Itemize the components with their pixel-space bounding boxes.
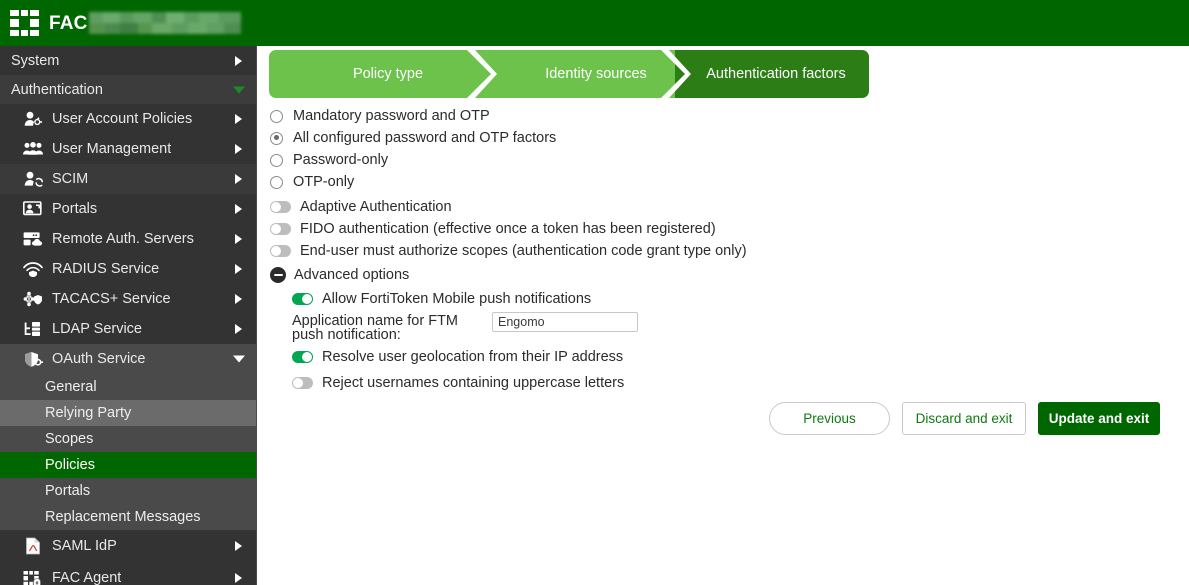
radio-option-label: Password-only (293, 152, 388, 168)
radio-button-icon[interactable] (270, 154, 283, 167)
sidebar-item-label: SCIM (52, 171, 88, 187)
wizard-action-buttons: Previous Discard and exit Update and exi… (769, 402, 1160, 435)
fortinet-grid-logo-icon[interactable] (10, 10, 40, 36)
user-settings-icon (22, 109, 44, 129)
wizard-chevron-separator-icon (467, 50, 497, 98)
chevron-right-icon (235, 144, 242, 154)
sidebar-item-portals[interactable]: Portals (0, 194, 256, 224)
sidebar-item-label: User Management (52, 141, 171, 157)
toggle-label: Allow FortiToken Mobile push notificatio… (322, 291, 591, 307)
left-sidebar-navigation[interactable]: System Authentication User Account Polic… (0, 46, 257, 585)
sidebar-item-fac-agent[interactable]: FAC Agent (0, 562, 256, 585)
chevron-right-icon (235, 114, 242, 124)
toggle-label: Resolve user geolocation from their IP a… (322, 349, 623, 365)
sidebar-subitem-label: Scopes (45, 431, 93, 447)
wizard-chevron-separator-icon (661, 50, 691, 98)
sidebar-item-oauth-service[interactable]: OAuth Service (0, 344, 256, 374)
user-screen-icon (22, 199, 44, 219)
authentication-factors-form: Mandatory password and OTP All configure… (270, 105, 1170, 394)
brand-title: FAC (49, 14, 88, 33)
oauth-service-submenu: General Relying Party Scopes Policies Po… (0, 374, 256, 530)
sidebar-item-label: LDAP Service (52, 321, 142, 337)
toggle-label: FIDO authentication (effective once a to… (300, 221, 716, 237)
sidebar-subitem-scopes[interactable]: Scopes (0, 426, 256, 452)
chevron-down-icon (233, 356, 245, 363)
sidebar-subitem-general[interactable]: General (0, 374, 256, 400)
sidebar-item-label: TACACS+ Service (52, 291, 171, 307)
chevron-right-icon (235, 204, 242, 214)
sidebar-subitem-label: Portals (45, 483, 90, 499)
top-header-bar: FAC (0, 0, 1189, 46)
sidebar-item-label: System (11, 53, 59, 69)
sidebar-item-label: Authentication (11, 82, 103, 98)
wizard-step-policy-type[interactable]: Policy type (269, 50, 499, 98)
chevron-down-icon (233, 86, 245, 93)
wizard-step-breadcrumb: Policy type Identity sources Authenticat… (269, 50, 869, 98)
sidebar-subitem-label: Policies (45, 457, 95, 473)
sidebar-item-label: Portals (52, 201, 97, 217)
oauth-shield-key-icon (22, 349, 44, 369)
toggle-label: Adaptive Authentication (300, 199, 452, 215)
radio-option-label: OTP-only (293, 174, 354, 190)
toggle-switch-off-icon[interactable] (270, 223, 291, 235)
sidebar-item-scim[interactable]: SCIM (0, 164, 256, 194)
sidebar-item-label: OAuth Service (52, 351, 146, 367)
radio-option-label: All configured password and OTP factors (293, 130, 556, 146)
chevron-right-icon (235, 234, 242, 244)
toggle-switch-on-icon[interactable] (292, 293, 313, 305)
radius-shield-icon (22, 259, 44, 279)
sidebar-item-remote-auth-servers[interactable]: Remote Auth. Servers (0, 224, 256, 254)
chevron-right-icon (235, 324, 242, 334)
toggle-switch-off-icon[interactable] (292, 377, 313, 389)
sidebar-item-label: SAML IdP (52, 538, 117, 554)
sidebar-item-authentication[interactable]: Authentication (0, 75, 256, 104)
sidebar-subitem-label: Replacement Messages (45, 509, 201, 525)
toggle-label: Reject usernames containing uppercase le… (322, 375, 624, 391)
toggle-label: End-user must authorize scopes (authenti… (300, 243, 747, 259)
radio-button-icon[interactable] (270, 110, 283, 123)
main-content-area: Policy type Identity sources Authenticat… (258, 46, 1189, 585)
sidebar-item-radius-service[interactable]: RADIUS Service (0, 254, 256, 284)
sidebar-item-label: RADIUS Service (52, 261, 159, 277)
sidebar-subitem-portals[interactable]: Portals (0, 478, 256, 504)
chevron-right-icon (235, 294, 242, 304)
redacted-hostname (89, 12, 241, 34)
radio-option-mandatory-password-otp[interactable]: Mandatory password and OTP (270, 105, 1170, 127)
sidebar-subitem-label: Relying Party (45, 405, 131, 421)
saml-document-icon (22, 536, 44, 556)
toggle-resolve-user-geolocation[interactable]: Resolve user geolocation from their IP a… (270, 346, 1170, 368)
ftm-application-name-row: Application name for FTM push notificati… (270, 312, 1170, 346)
radio-option-otp-only[interactable]: OTP-only (270, 171, 1170, 193)
sidebar-item-tacacs-service[interactable]: TACACS+ Service (0, 284, 256, 314)
fac-agent-icon (22, 568, 44, 585)
chevron-right-icon (235, 56, 242, 66)
sidebar-item-system[interactable]: System (0, 46, 256, 75)
update-and-exit-button[interactable]: Update and exit (1038, 402, 1160, 435)
toggle-end-user-authorize-scopes[interactable]: End-user must authorize scopes (authenti… (270, 240, 1170, 262)
ldap-tree-icon (22, 319, 44, 339)
toggle-adaptive-authentication[interactable]: Adaptive Authentication (270, 196, 1170, 218)
ftm-application-name-input[interactable] (492, 312, 638, 332)
sidebar-item-label: User Account Policies (52, 111, 192, 127)
sidebar-subitem-replacement-messages[interactable]: Replacement Messages (0, 504, 256, 530)
sidebar-subitem-policies[interactable]: Policies (0, 452, 256, 478)
toggle-reject-uppercase-usernames[interactable]: Reject usernames containing uppercase le… (270, 372, 1170, 394)
toggle-switch-off-icon[interactable] (270, 201, 291, 213)
radio-button-icon[interactable] (270, 176, 283, 189)
toggle-switch-on-icon[interactable] (292, 351, 313, 363)
chevron-right-icon (235, 573, 242, 583)
chevron-right-icon (235, 264, 242, 274)
previous-button[interactable]: Previous (769, 402, 890, 435)
advanced-options-header[interactable]: Advanced options (270, 262, 1170, 288)
radio-button-selected-icon[interactable] (270, 132, 283, 145)
minus-circle-icon[interactable] (270, 267, 286, 283)
sidebar-item-ldap-service[interactable]: LDAP Service (0, 314, 256, 344)
sidebar-item-label: Remote Auth. Servers (52, 231, 194, 247)
toggle-fido-authentication[interactable]: FIDO authentication (effective once a to… (270, 218, 1170, 240)
sidebar-item-user-account-policies[interactable]: User Account Policies (0, 104, 256, 134)
discard-and-exit-button[interactable]: Discard and exit (902, 402, 1026, 435)
wizard-step-label: Identity sources (537, 66, 647, 82)
application-window: FAC System Authent (0, 0, 1189, 585)
wizard-step-label: Authentication factors (698, 66, 845, 82)
toggle-switch-off-icon[interactable] (270, 245, 291, 257)
wizard-step-label: Policy type (345, 66, 423, 82)
ftm-application-name-label: Application name for FTM push notificati… (292, 312, 492, 342)
radio-option-password-only[interactable]: Password-only (270, 149, 1170, 171)
radio-option-label: Mandatory password and OTP (293, 108, 490, 124)
sidebar-item-user-management[interactable]: User Management (0, 134, 256, 164)
sidebar-subitem-label: General (45, 379, 97, 395)
toggle-allow-ftm-push-notifications[interactable]: Allow FortiToken Mobile push notificatio… (270, 288, 1170, 310)
sidebar-item-saml-idp[interactable]: SAML IdP (0, 530, 256, 562)
advanced-options-label: Advanced options (294, 267, 409, 283)
tacacs-shield-icon (22, 289, 44, 309)
sidebar-subitem-relying-party[interactable]: Relying Party (0, 400, 256, 426)
wizard-step-authentication-factors[interactable]: Authentication factors (675, 50, 869, 98)
users-group-icon (22, 139, 44, 159)
chevron-right-icon (235, 174, 242, 184)
chevron-right-icon (235, 541, 242, 551)
server-cloud-icon (22, 229, 44, 249)
radio-option-all-configured-factors[interactable]: All configured password and OTP factors (270, 127, 1170, 149)
sidebar-item-label: FAC Agent (52, 570, 121, 585)
user-sync-icon (22, 169, 44, 189)
